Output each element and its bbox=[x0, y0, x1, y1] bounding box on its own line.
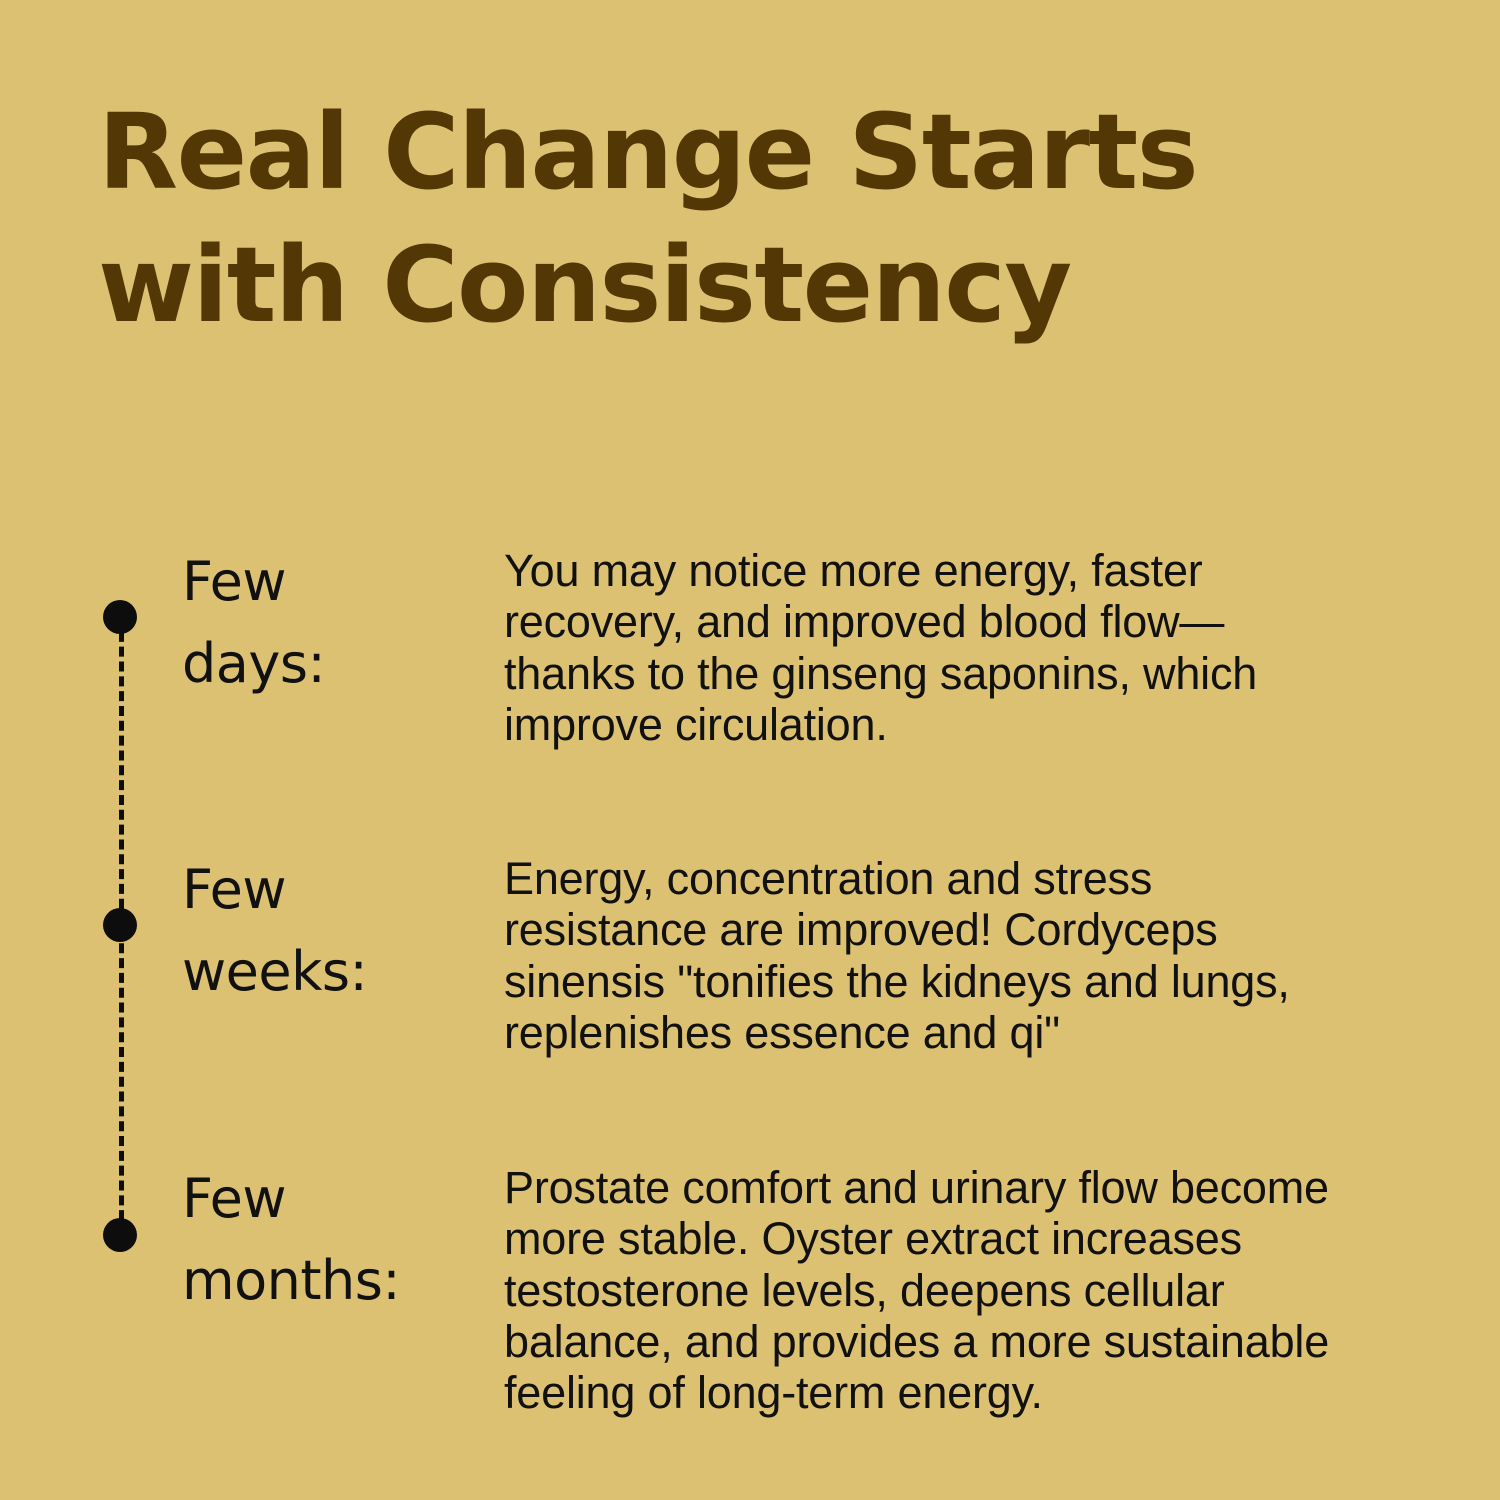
timeline-dot-3 bbox=[103, 1218, 137, 1252]
timeline-row-label-few-days: Few days: bbox=[182, 541, 504, 705]
timeline-row-body-few-months: Prostate comfort and urinary flow become… bbox=[504, 1158, 1350, 1418]
timeline-row-body-few-weeks: Energy, concentration and stress resista… bbox=[504, 849, 1350, 1058]
timeline-rail bbox=[103, 600, 137, 1252]
timeline-dot-2 bbox=[103, 908, 137, 942]
timeline-row-body-few-days: You may notice more energy, faster recov… bbox=[504, 541, 1350, 750]
timeline-dot-1 bbox=[103, 600, 137, 634]
timeline-row-label-few-months: Few months: bbox=[182, 1158, 504, 1322]
timeline-row-few-months: Few months: Prostate comfort and urinary… bbox=[182, 1158, 1500, 1418]
poster-canvas: Real Change Starts with Consistency Few … bbox=[0, 0, 1500, 1500]
timeline-row-few-days: Few days: You may notice more energy, fa… bbox=[182, 541, 1500, 750]
timeline-row-label-few-weeks: Few weeks: bbox=[182, 849, 504, 1013]
page-title: Real Change Starts with Consistency bbox=[98, 86, 1348, 352]
timeline-row-few-weeks: Few weeks: Energy, concentration and str… bbox=[182, 849, 1500, 1058]
